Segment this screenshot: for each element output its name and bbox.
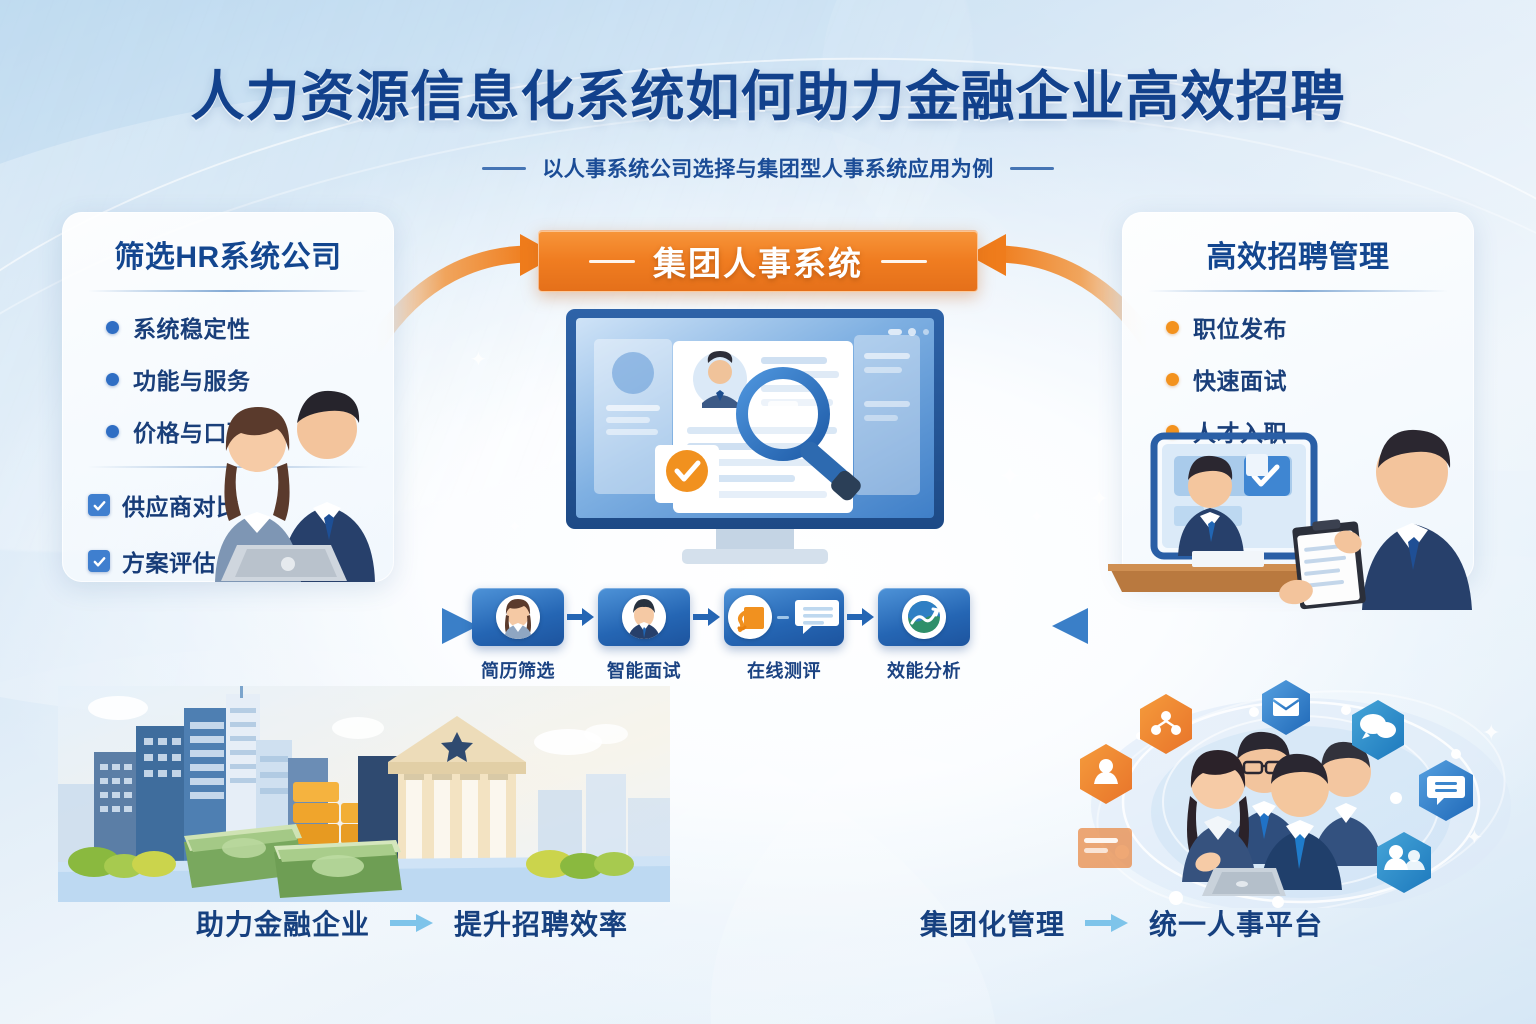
svg-text:✦: ✦ — [1482, 720, 1500, 745]
right-panel-heading: 高效招聘管理 — [1122, 212, 1474, 276]
assessment-form-icon — [728, 595, 772, 639]
bottom-left-caption: 助力金融企业 提升招聘效率 — [196, 903, 628, 943]
list-item[interactable]: 快速面试 — [1166, 362, 1474, 396]
banner-dash-left — [589, 260, 635, 263]
caption-to-label: 统一人事平台 — [1149, 903, 1323, 943]
left-return-arrow-icon — [266, 596, 486, 656]
workflow-label: 智能面试 — [598, 657, 690, 683]
check-icon[interactable] — [88, 494, 110, 516]
bullet-label: 快速面试 — [1193, 362, 1287, 396]
bullet-label: 系统稳定性 — [133, 310, 251, 344]
subtitle-row: 以人事系统公司选择与集团型人事系统应用为例 — [0, 153, 1536, 183]
banner-dash-right — [881, 260, 927, 263]
bullet-dot-icon — [106, 425, 119, 438]
center-banner: 集团人事系统 — [538, 230, 978, 292]
bullet-dot-icon — [1166, 321, 1179, 334]
bullet-label: 职位发布 — [1193, 310, 1287, 344]
check-icon[interactable] — [88, 550, 110, 572]
caption-from-label: 助力金融企业 — [196, 903, 370, 943]
bullet-dot-icon — [106, 321, 119, 334]
bullet-dot-icon — [1166, 373, 1179, 386]
subtitle-dash-right — [1010, 167, 1054, 170]
left-panel-heading: 筛选HR系统公司 — [62, 212, 394, 276]
right-return-arrow-icon — [1044, 596, 1264, 656]
workflow-steps: 简历筛选 智能面试 — [472, 588, 1052, 688]
caption-arrow-icon — [1085, 913, 1129, 933]
workflow-label: 在线测评 — [724, 657, 844, 683]
caption-arrow-icon — [390, 913, 434, 933]
workflow-step-online-assessment[interactable]: 在线测评 — [724, 588, 844, 683]
subtitle-dash-left — [482, 167, 526, 170]
bullet-dot-icon — [106, 373, 119, 386]
list-item[interactable]: 职位发布 — [1166, 310, 1474, 344]
workflow-step-smart-interview[interactable]: 智能面试 — [598, 588, 690, 683]
infographic-canvas: 人力资源信息化系统如何助力金融企业高效招聘 以人事系统公司选择与集团型人事系统应… — [0, 0, 1536, 1024]
female-avatar-icon — [496, 595, 540, 639]
interview-desk-scene-illustration — [1096, 424, 1508, 610]
workflow-step-performance-analysis[interactable]: 效能分析 — [878, 588, 970, 683]
header: 人力资源信息化系统如何助力金融企业高效招聘 以人事系统公司选择与集团型人事系统应… — [0, 52, 1536, 183]
male-avatar-icon — [622, 595, 666, 639]
banner-label: 集团人事系统 — [653, 237, 863, 285]
page-subtitle: 以人事系统公司选择与集团型人事系统应用为例 — [542, 153, 994, 183]
finance-city-bank-money-illustration — [58, 686, 670, 902]
chat-lines-icon — [794, 596, 840, 638]
list-item[interactable]: 系统稳定性 — [106, 310, 394, 344]
workflow-tile[interactable] — [724, 588, 844, 646]
workflow-arrow-icon — [690, 588, 724, 646]
workflow-label: 效能分析 — [878, 657, 970, 683]
workflow-arrow-icon — [844, 588, 878, 646]
analytics-chart-icon — [902, 595, 946, 639]
workflow-arrow-icon — [564, 588, 598, 646]
caption-from-label: 集团化管理 — [920, 903, 1065, 943]
page-title: 人力资源信息化系统如何助力金融企业高效招聘 — [0, 52, 1536, 131]
bottom-right-caption: 集团化管理 统一人事平台 — [920, 903, 1323, 943]
connector-dash-icon — [777, 612, 789, 622]
left-panel: 筛选HR系统公司 系统稳定性 功能与服务 价格与口碑 供应商对比 — [62, 212, 394, 582]
workflow-label: 简历筛选 — [472, 657, 564, 683]
workflow-step-resume-screening[interactable]: 简历筛选 — [472, 588, 564, 683]
team-network-hexagons-illustration: ✦ ✦ — [1078, 676, 1524, 908]
caption-to-label: 提升招聘效率 — [454, 903, 628, 943]
workflow-tile[interactable] — [472, 588, 564, 646]
workflow-tile[interactable] — [598, 588, 690, 646]
workflow-tile[interactable] — [878, 588, 970, 646]
svg-text:✦: ✦ — [1466, 827, 1483, 849]
two-colleagues-with-laptop-illustration — [185, 367, 394, 582]
resume-screening-monitor-illustration — [556, 305, 954, 573]
